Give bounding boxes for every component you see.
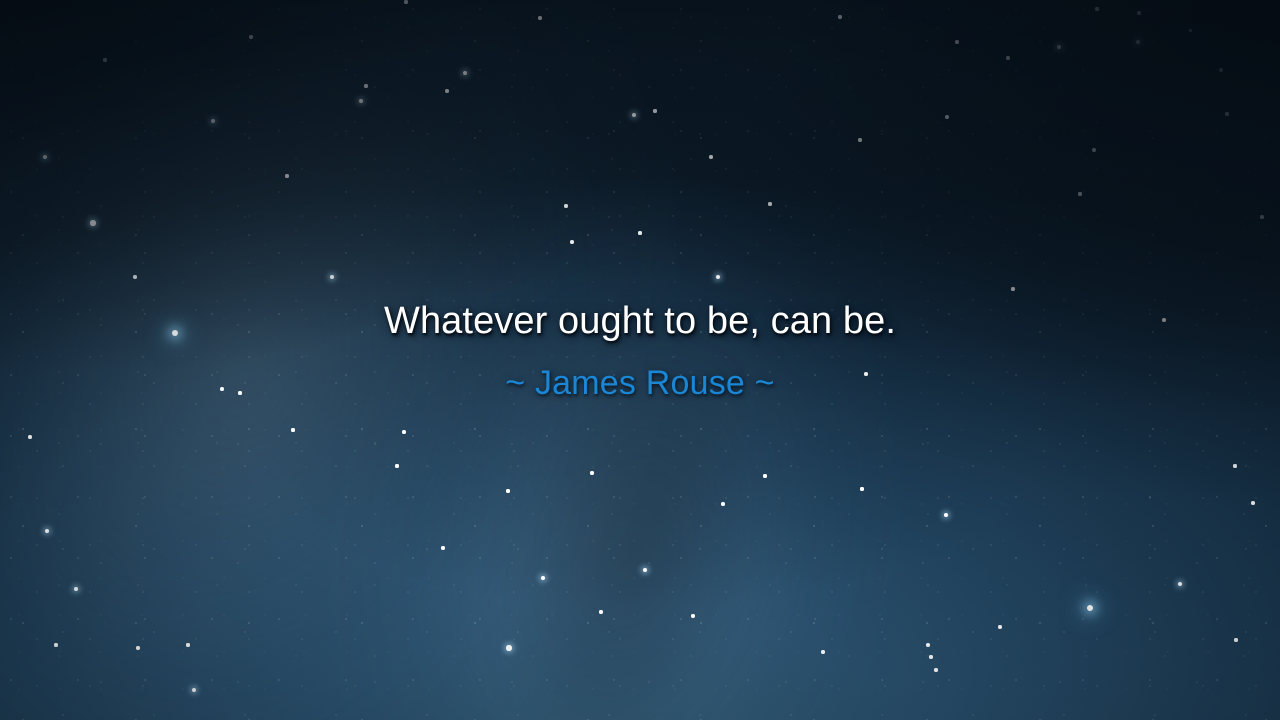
quote-text: Whatever ought to be, can be. [0, 296, 1280, 346]
quote-author: ~ James Rouse ~ [0, 362, 1280, 404]
quote-wallpaper-screen: Whatever ought to be, can be. ~ James Ro… [0, 0, 1280, 720]
quote-block: Whatever ought to be, can be. ~ James Ro… [0, 296, 1280, 404]
